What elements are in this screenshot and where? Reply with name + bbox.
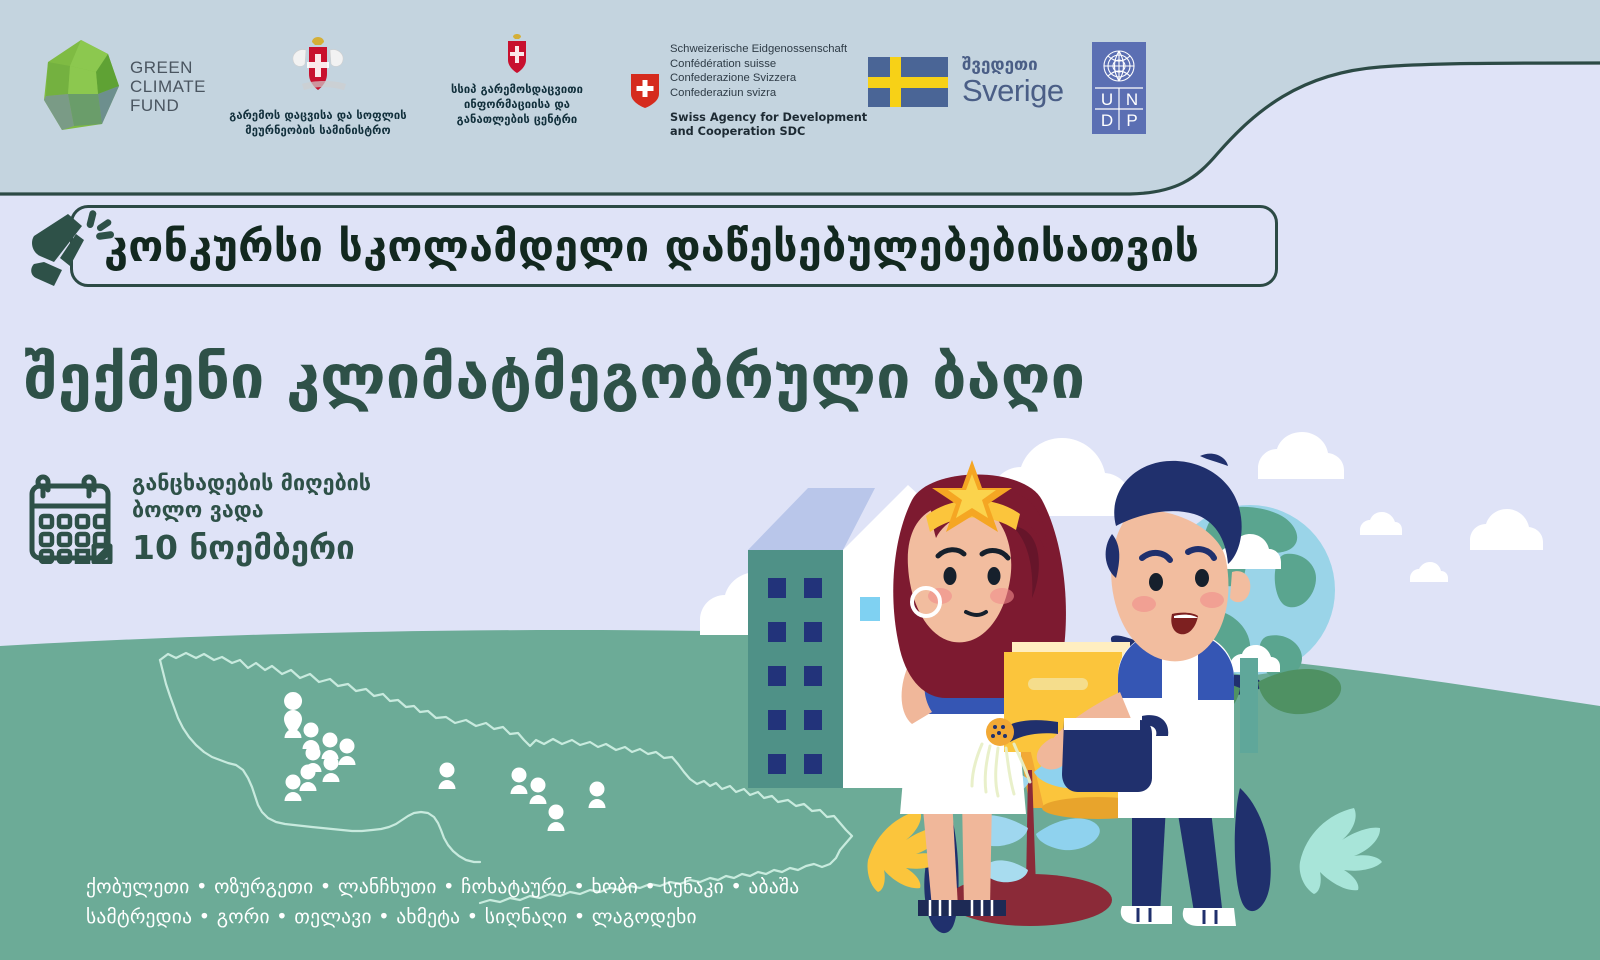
megaphone-icon [22, 196, 118, 296]
ministry-name: გარემოს დაცვისა და სოფლის მეურნეობის სამ… [218, 108, 418, 138]
announcement-text: კონკურსი სკოლამდელი დაწესებულებებისათვის [104, 212, 1199, 282]
sdc-agency: Swiss Agency for Development and Coopera… [670, 111, 867, 139]
logo-undp: UN DP [1092, 42, 1146, 134]
municipality-line2: სამტრედია • გორი • თელავი • ახმეტა • სიღ… [86, 902, 799, 932]
calendar-icon [24, 472, 116, 564]
poster: GREEN CLIMATE FUND გარემოს დაცვისა და სო… [0, 0, 1600, 960]
swiss-line5: Swiss Agency for Development [670, 111, 867, 125]
gcf-line1: GREEN [130, 58, 206, 77]
deadline-label-line1: განცხადების მიღების [132, 470, 371, 497]
swiss-line3: Confederazione Svizzera [670, 71, 867, 86]
swiss-line6: and Cooperation SDC [670, 125, 867, 139]
eiec-line2: ინფორმაციისა და [432, 97, 602, 112]
svg-text:P: P [1126, 111, 1137, 130]
municipality-line1: ქობულეთი • ოზურგეთი • ლანჩხუთი • ჩოხატაუ… [86, 872, 799, 902]
logo-sweden-sverige: შვედეთი Sverige [868, 56, 1064, 108]
sweden-en-label: Sverige [962, 74, 1064, 108]
eiec-line3: განათლების ცენტრი [432, 112, 602, 127]
georgia-small-crest-icon [502, 34, 532, 78]
ministry-line2: მეურნეობის სამინისტრო [218, 123, 418, 138]
swiss-line4: Confederaziun svizra [670, 86, 867, 101]
undp-emblem-icon: UN DP [1092, 42, 1146, 134]
sweden-ka-label: შვედეთი [962, 56, 1064, 74]
page-title: შექმენი კლიმატმეგობრული ბაღი [24, 341, 1085, 415]
municipality-list: ქობულეთი • ოზურგეთი • ლანჩხუთი • ჩოხატაუ… [86, 872, 799, 932]
logo-ministry-of-environment: გარემოს დაცვისა და სოფლის მეურნეობის სამ… [218, 36, 418, 138]
ministry-line1: გარემოს დაცვისა და სოფლის [218, 108, 418, 123]
logo-swiss-confederation: Schweizerische Eidgenossenschaft Confédé… [630, 42, 867, 139]
swiss-line1: Schweizerische Eidgenossenschaft [670, 42, 867, 57]
swiss-names: Schweizerische Eidgenossenschaft Confédé… [670, 42, 867, 100]
eiec-line1: სსიპ გარემოსდაცვითი [432, 82, 602, 97]
svg-text:N: N [1126, 90, 1138, 109]
deadline-date: 10 ნოემბერი [132, 527, 371, 569]
svg-text:U: U [1101, 90, 1113, 109]
deadline-block: განცხადების მიღების ბოლო ვადა 10 ნოემბერ… [24, 466, 371, 569]
gcf-wordmark: GREEN CLIMATE FUND [130, 58, 206, 115]
swiss-line2: Confédération suisse [670, 57, 867, 72]
deadline-label-line2: ბოლო ვადა [132, 497, 371, 524]
swiss-shield-icon [630, 73, 660, 109]
logo-green-climate-fund: GREEN CLIMATE FUND [40, 38, 206, 134]
illustration-scene [660, 430, 1600, 960]
georgia-coat-of-arms-icon [290, 36, 346, 102]
gcf-polygon-icon [40, 38, 122, 134]
sweden-flag-icon [868, 57, 948, 107]
girl-with-folder [893, 460, 1130, 916]
partner-logos: GREEN CLIMATE FUND გარემოს დაცვისა და სო… [0, 0, 1600, 190]
logo-environmental-info-education-centre: სსიპ გარემოსდაცვითი ინფორმაციისა და განა… [432, 34, 602, 127]
svg-text:D: D [1101, 111, 1113, 130]
deadline-text: განცხადების მიღების ბოლო ვადა 10 ნოემბერ… [132, 466, 371, 569]
eiec-name: სსიპ გარემოსდაცვითი ინფორმაციისა და განა… [432, 82, 602, 127]
gcf-line3: FUND [130, 96, 206, 115]
gcf-line2: CLIMATE [130, 77, 206, 96]
